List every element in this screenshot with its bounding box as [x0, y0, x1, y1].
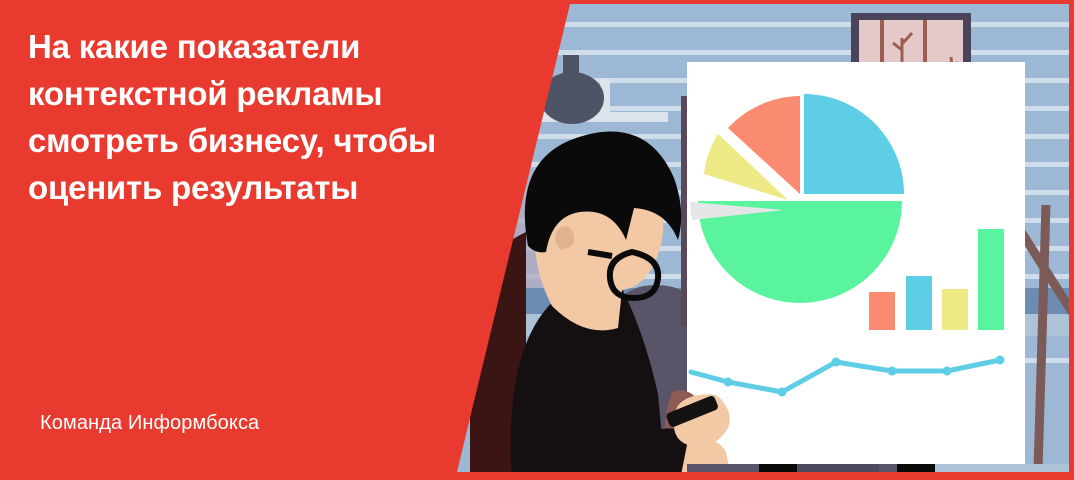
headline-line-3: смотреть бизнесу, чтобы: [28, 118, 528, 165]
bar-1: [869, 292, 895, 330]
page-title: На какие показатели контекстной рекламы …: [28, 24, 528, 211]
bar-3: [942, 289, 968, 330]
bar-2: [906, 276, 932, 330]
headline-line-2: контекстной рекламы: [28, 71, 528, 118]
right-border-strip: [1069, 0, 1074, 480]
banner-image: На какие показатели контекстной рекламы …: [0, 0, 1074, 480]
bar-4: [978, 229, 1004, 330]
bottom-border-strip: [0, 472, 1074, 480]
headline-line-4: оценить результаты: [28, 165, 528, 212]
byline-text: Команда Информбокса: [40, 412, 259, 435]
headline-line-1: На какие показатели: [28, 24, 528, 71]
top-border-strip: [0, 0, 1074, 4]
